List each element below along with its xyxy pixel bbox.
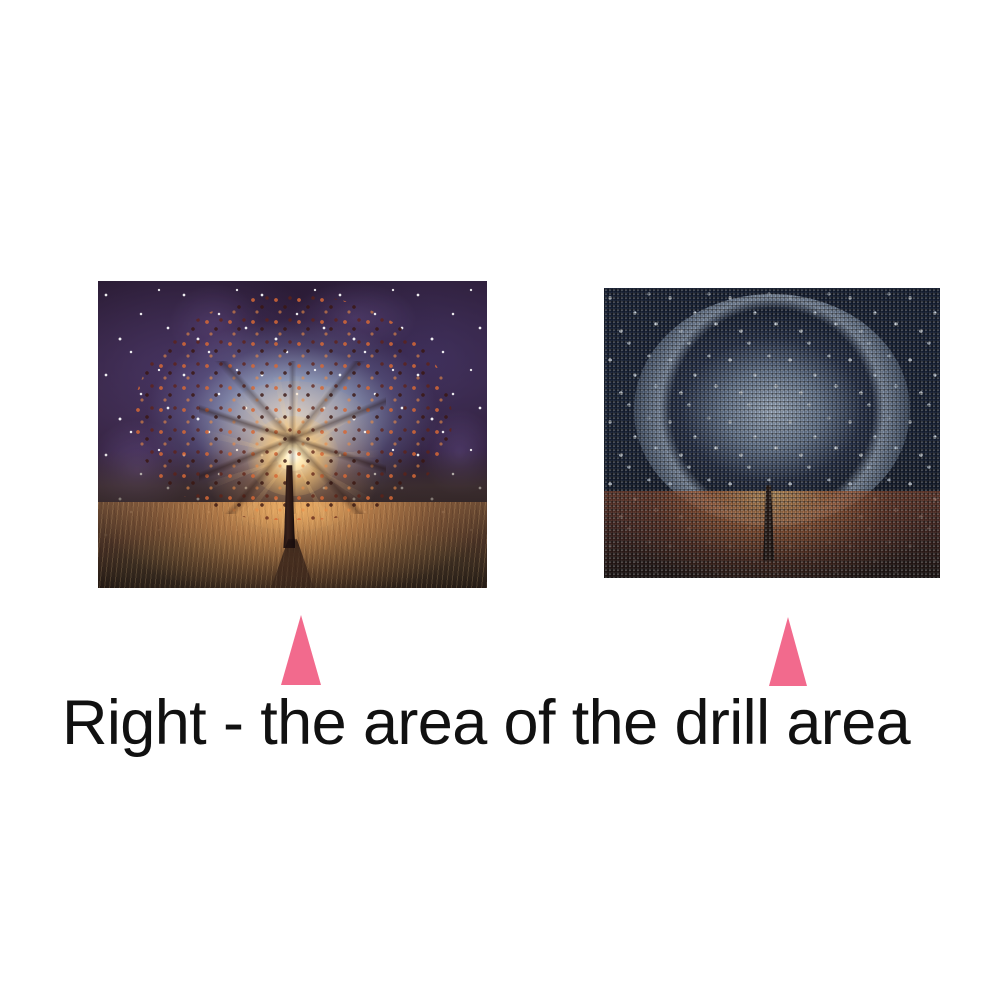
caption-text: Right - the area of the drill area — [62, 692, 1002, 755]
drill-grid-lines — [604, 288, 940, 578]
design-preview-image — [98, 281, 487, 588]
product-comparison-canvas: Right - the area of the drill area — [0, 0, 1002, 1002]
drill-area-image — [604, 288, 940, 578]
